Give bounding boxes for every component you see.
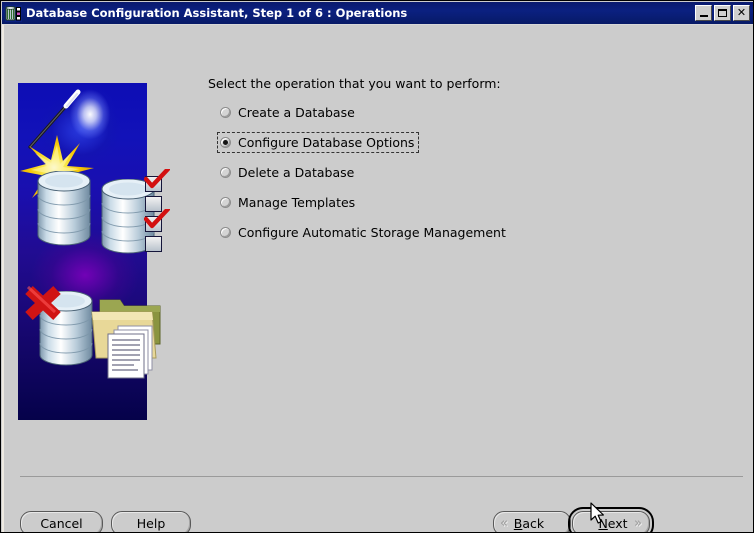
next-button[interactable]: Next »	[572, 511, 650, 533]
page-title: Select the operation that you want to pe…	[208, 76, 501, 91]
maximize-icon	[718, 9, 727, 17]
client-area: Select the operation that you want to pe…	[2, 24, 754, 533]
checklist-icon	[145, 176, 171, 252]
cancel-button[interactable]: Cancel	[20, 511, 103, 533]
close-icon: ✕	[737, 8, 746, 18]
database-assistant-illustration	[18, 83, 147, 420]
close-button[interactable]: ✕	[733, 5, 750, 21]
maximize-button[interactable]	[714, 5, 731, 21]
divider	[20, 476, 743, 477]
minimize-icon	[700, 15, 708, 17]
back-button-label: Back	[508, 516, 550, 531]
radio-icon[interactable]	[220, 227, 231, 238]
application-window: Database Configuration Assistant, Step 1…	[0, 0, 754, 533]
radio-label: Manage Templates	[238, 196, 355, 210]
database-app-icon	[5, 5, 22, 22]
radio-label: Create a Database	[238, 106, 355, 120]
radio-option-delete-a-database[interactable]: Delete a Database	[217, 162, 359, 183]
radio-icon[interactable]	[220, 197, 231, 208]
radio-label: Delete a Database	[238, 166, 354, 180]
next-button-label: Next	[592, 516, 634, 531]
radio-option-create-a-database[interactable]: Create a Database	[217, 102, 360, 123]
minimize-button[interactable]	[695, 5, 712, 21]
radio-label: Configure Automatic Storage Management	[238, 226, 506, 240]
radio-option-configure-automatic-storage-management[interactable]: Configure Automatic Storage Management	[217, 222, 511, 243]
radio-icon[interactable]	[220, 167, 231, 178]
chevron-left-icon: «	[500, 517, 508, 530]
red-x-icon	[22, 283, 64, 323]
help-button[interactable]: Help	[111, 511, 191, 533]
radio-option-configure-database-options[interactable]: Configure Database Options	[217, 132, 419, 153]
operation-radio-group: Create a Database Configure Database Opt…	[217, 102, 647, 252]
radio-icon[interactable]	[220, 107, 231, 118]
radio-icon-selected[interactable]	[220, 137, 231, 148]
button-bar: Cancel Help « Back Next »	[4, 485, 754, 533]
cancel-button-label: Cancel	[21, 516, 102, 531]
radio-option-manage-templates[interactable]: Manage Templates	[217, 192, 360, 213]
window-title: Database Configuration Assistant, Step 1…	[26, 6, 695, 20]
chevron-right-icon: »	[634, 517, 642, 530]
window-controls: ✕	[695, 5, 750, 21]
database-cylinder-icon	[36, 171, 92, 247]
back-button[interactable]: « Back	[493, 511, 571, 533]
title-bar[interactable]: Database Configuration Assistant, Step 1…	[2, 2, 754, 24]
radio-label: Configure Database Options	[238, 136, 414, 150]
folder-documents-icon	[90, 288, 168, 380]
help-button-label: Help	[112, 516, 190, 531]
